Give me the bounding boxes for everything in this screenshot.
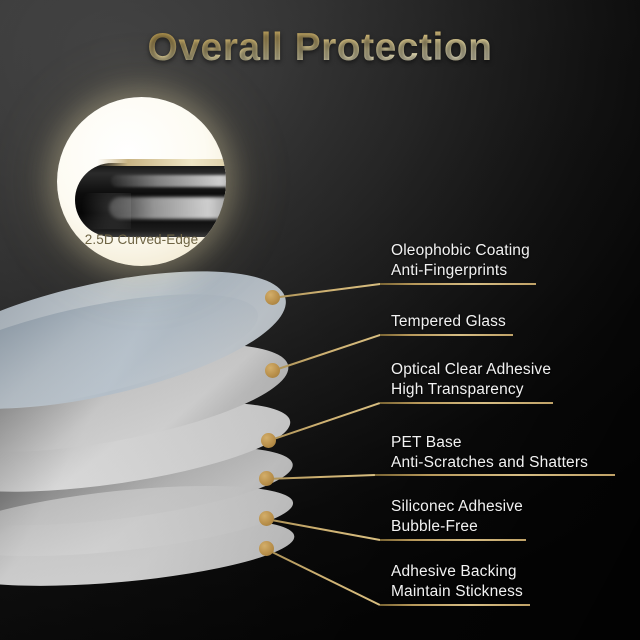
- callout-line-1: PET Base: [391, 433, 588, 453]
- callout-underline: [380, 283, 536, 285]
- callout-line-2: High Transparency: [391, 380, 551, 400]
- callout-label-siliconec-adhesive: Siliconec AdhesiveBubble-Free: [391, 497, 523, 536]
- callout-anchor-dot: [265, 363, 280, 378]
- callout-label-pet-base: PET BaseAnti-Scratches and Shatters: [391, 433, 588, 472]
- callout-label-adhesive-backing: Adhesive BackingMaintain Stickness: [391, 562, 523, 601]
- callout-underline: [375, 474, 615, 476]
- edge-gloss-highlight: [111, 175, 226, 187]
- callout-label-tempered-glass: Tempered Glass: [391, 312, 506, 332]
- callout-underline: [380, 604, 530, 606]
- callout-anchor-dot: [259, 471, 274, 486]
- callout-anchor-dot: [265, 290, 280, 305]
- callout-line-2: Maintain Stickness: [391, 582, 523, 602]
- callout-anchor-dot: [259, 511, 274, 526]
- background-gradient: [0, 0, 640, 640]
- callout-line-1: Oleophobic Coating: [391, 241, 530, 261]
- page-title: Overall Protection: [0, 26, 640, 70]
- callout-anchor-dot: [261, 433, 276, 448]
- callout-line-2: Bubble-Free: [391, 517, 523, 537]
- edge-tip-shading: [73, 193, 131, 229]
- callout-anchor-dot: [259, 541, 274, 556]
- callout-label-optical-clear-adhesive: Optical Clear AdhesiveHigh Transparency: [391, 360, 551, 399]
- callout-underline: [380, 539, 526, 541]
- inset-caption: 2.5D Curved-Edge: [57, 232, 226, 247]
- callout-line-2: Anti-Scratches and Shatters: [391, 453, 588, 473]
- infographic-canvas: Overall Protection 2.5D Curved-Edge Oleo…: [0, 0, 640, 640]
- callout-line-2: Anti-Fingerprints: [391, 261, 530, 281]
- callout-line-1: Optical Clear Adhesive: [391, 360, 551, 380]
- callout-line-1: Siliconec Adhesive: [391, 497, 523, 517]
- callout-underline: [380, 334, 513, 336]
- curved-edge-inset: 2.5D Curved-Edge: [57, 97, 226, 266]
- callout-underline: [380, 402, 553, 404]
- callout-line-1: Tempered Glass: [391, 312, 506, 332]
- edge-gold-highlight-icon: [97, 159, 226, 166]
- callout-line-1: Adhesive Backing: [391, 562, 523, 582]
- callout-label-oleophobic-coating: Oleophobic CoatingAnti-Fingerprints: [391, 241, 530, 280]
